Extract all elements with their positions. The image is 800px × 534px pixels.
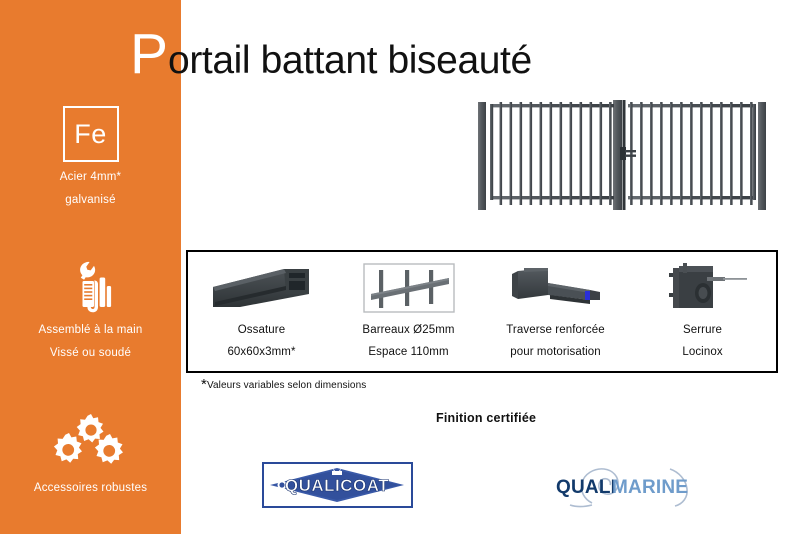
accessories-label: Accessoires robustes bbox=[0, 482, 181, 494]
page-title-initial: P bbox=[130, 26, 167, 83]
feature-barreaux-line2: Espace 110mm bbox=[368, 346, 448, 359]
feature-serrure-line2: Locinox bbox=[682, 346, 722, 359]
page-title: Portail battant biseauté bbox=[130, 26, 532, 84]
feature-serrure-line1: Serrure bbox=[683, 324, 722, 337]
features-panel: Ossature 60x60x3mm* Barreaux Ø25mm Espac… bbox=[186, 250, 778, 373]
feature-serrure: Serrure Locinox bbox=[629, 252, 776, 371]
sidebar-item-assembly: Assemblé à la main Vissé ou soudé bbox=[0, 255, 181, 359]
certification-heading: Finition certifiée bbox=[436, 411, 536, 425]
feature-barreaux-line1: Barreaux Ø25mm bbox=[362, 324, 454, 337]
sidebar-item-accessories: Accessoires robustes bbox=[0, 413, 181, 494]
assembly-label-line1: Assemblé à la main bbox=[0, 324, 181, 336]
feature-ossature: Ossature 60x60x3mm* bbox=[188, 252, 335, 371]
motor-crossbar-icon bbox=[504, 259, 608, 317]
assembly-label-line2: Vissé ou soudé bbox=[0, 347, 181, 359]
hand-wrench-icon bbox=[0, 255, 181, 313]
page-title-rest: ortail battant biseauté bbox=[168, 41, 532, 80]
svg-text:QUALICOAT: QUALICOAT bbox=[285, 476, 389, 495]
fe-element-box-icon: Fe bbox=[63, 106, 119, 162]
sidebar-item-material: Fe Acier 4mm* galvanisé bbox=[0, 106, 181, 206]
material-label-line1: Acier 4mm* bbox=[0, 171, 181, 183]
feature-traverse-line2: pour motorisation bbox=[510, 346, 601, 359]
swing-gate-drawing bbox=[470, 92, 788, 220]
product-sheet: Fe Acier 4mm* galvanisé bbox=[0, 0, 800, 534]
gears-icon bbox=[0, 413, 181, 471]
feature-barreaux: Barreaux Ø25mm Espace 110mm bbox=[335, 252, 482, 371]
steel-profile-icon bbox=[210, 259, 314, 317]
qualicoat-logo: QUALICOAT bbox=[262, 462, 413, 508]
footnote: *Valeurs variables selon dimensions bbox=[201, 380, 366, 391]
footnote-text: Valeurs variables selon dimensions bbox=[207, 380, 366, 391]
svg-text:QUALI: QUALI bbox=[556, 477, 616, 498]
qualimarine-logo: QUALI MARINE bbox=[552, 463, 715, 508]
feature-ossature-line1: Ossature bbox=[238, 324, 285, 337]
feature-ossature-line2: 60x60x3mm* bbox=[227, 346, 295, 359]
feature-traverse: Traverse renforcée pour motorisation bbox=[482, 252, 629, 371]
gate-lock bbox=[620, 147, 636, 160]
fe-symbol: Fe bbox=[74, 121, 107, 148]
svg-text:MARINE: MARINE bbox=[612, 477, 688, 498]
bars-spacing-icon bbox=[363, 259, 455, 317]
feature-traverse-line1: Traverse renforcée bbox=[506, 324, 605, 337]
material-label-line2: galvanisé bbox=[0, 194, 181, 206]
lock-icon bbox=[655, 259, 751, 317]
